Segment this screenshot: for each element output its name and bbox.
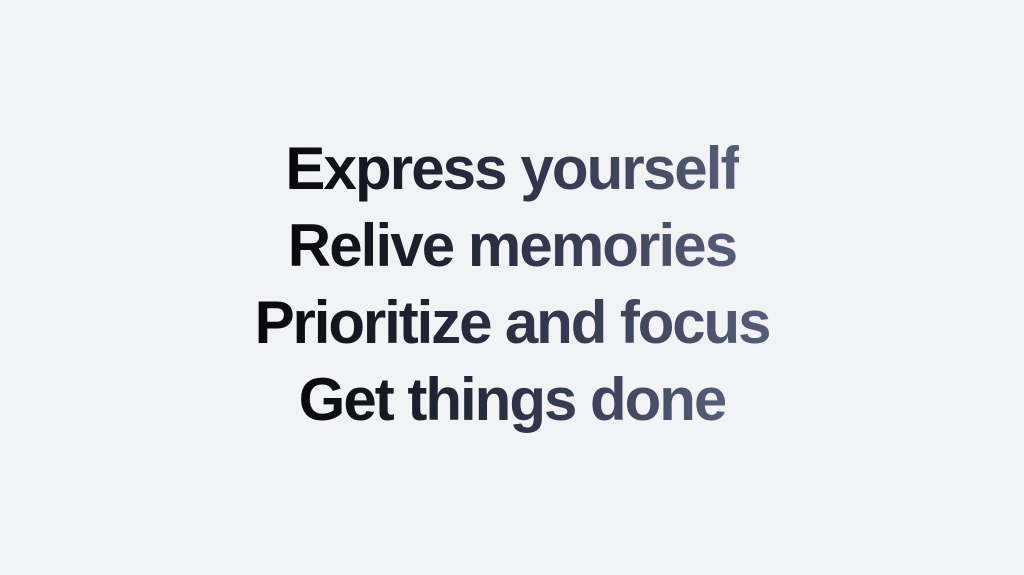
tagline-block: Express yourself Relive memories Priorit…: [0, 130, 1024, 438]
tagline-line-4: Get things done: [299, 361, 726, 438]
tagline-line-1: Express yourself: [285, 130, 738, 207]
tagline-line-2: Relive memories: [288, 207, 736, 284]
tagline-line-3: Prioritize and focus: [255, 284, 770, 361]
slide-canvas: Express yourself Relive memories Priorit…: [0, 0, 1024, 575]
